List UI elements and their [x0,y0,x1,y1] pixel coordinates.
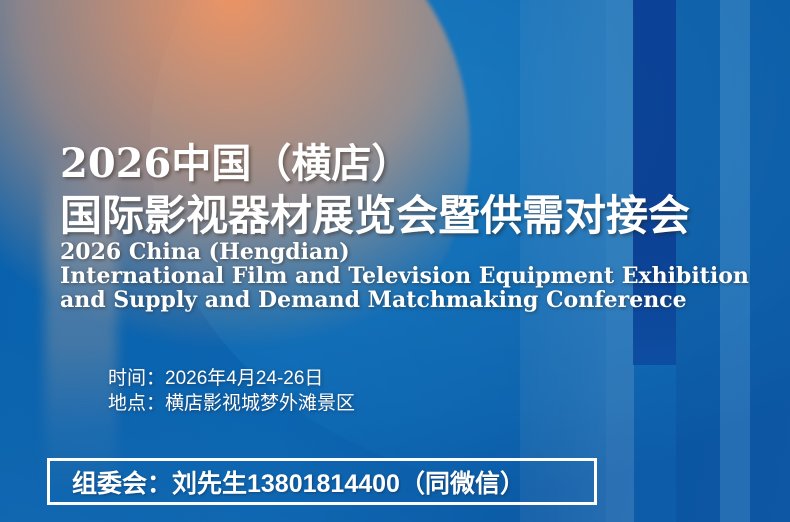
event-location-line: 地点：横店影视城梦外滩景区 [108,391,355,417]
event-promo-banner: 2026中国（横店） 国际影视器材展览会暨供需对接会 2026 China (H… [0,0,790,522]
title-english-line-1: 2026 China (Hengdian) [60,240,350,264]
contact-text: 组委会：刘先生13801814400（同微信） [50,464,525,500]
contact-box: 组委会：刘先生13801814400（同微信） [47,458,597,505]
title-english-line-2: International Film and Television Equipm… [60,264,749,288]
title-english-line-3: and Supply and Demand Matchmaking Confer… [60,288,687,312]
event-date-line: 时间：2026年4月24-26日 [108,366,323,392]
title-chinese-line-1: 2026中国（横店） [60,140,411,188]
banner-content: 2026中国（横店） 国际影视器材展览会暨供需对接会 2026 China (H… [0,0,790,522]
title-chinese-line-2: 国际影视器材展览会暨供需对接会 [60,190,690,242]
